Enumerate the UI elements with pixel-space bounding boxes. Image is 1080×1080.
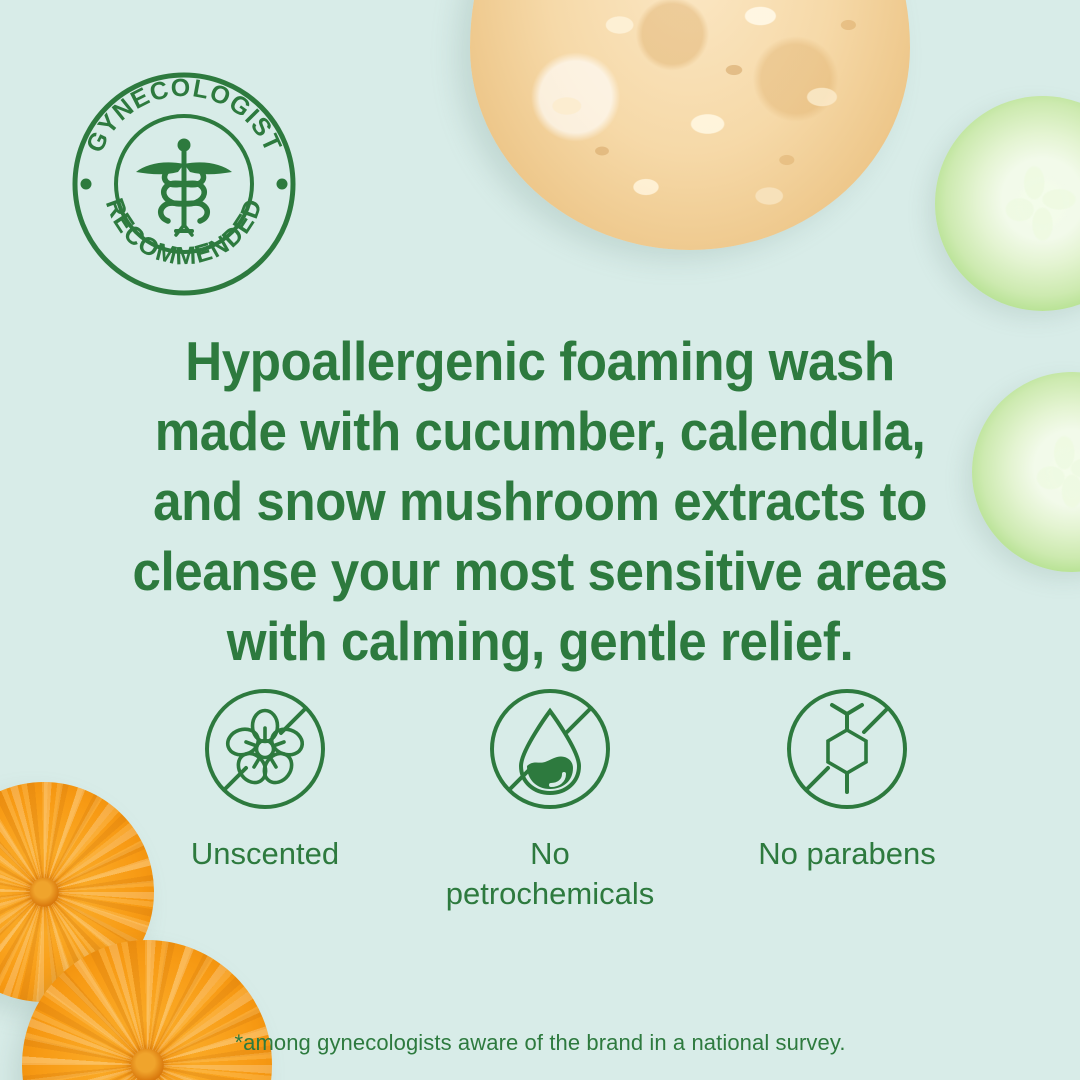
cucumber-seeds <box>1024 424 1080 520</box>
benefit-no-petrochemicals: No petrochemicals <box>425 686 675 914</box>
headline: Hypoallergenic foaming wash made with cu… <box>94 326 987 676</box>
benefit-label: Unscented <box>191 834 339 874</box>
no-parabens-molecule-icon <box>784 686 910 812</box>
snow-mushroom-image <box>470 0 910 250</box>
no-fragrance-flower-icon <box>202 686 328 812</box>
badge-dot-left <box>81 179 92 190</box>
footnote: *among gynecologists aware of the brand … <box>0 1030 1080 1056</box>
cucumber-slice-image <box>935 96 1080 311</box>
caduceus-icon <box>136 139 232 236</box>
cucumber-slice-image <box>972 372 1080 572</box>
no-petrochemicals-droplet-icon <box>487 686 613 812</box>
benefit-no-parabens: No parabens <box>722 686 972 874</box>
cucumber-seeds <box>991 152 1080 255</box>
benefit-label: No petrochemicals <box>446 834 654 914</box>
benefit-unscented: Unscented <box>140 686 390 874</box>
badge-dot-right <box>277 179 288 190</box>
gynecologist-recommended-badge: GYNECOLOGIST RECOMMENDED <box>68 68 300 300</box>
product-benefits-card: GYNECOLOGIST RECOMMENDED Hypoallergenic … <box>0 0 1080 1080</box>
flower-center <box>30 878 59 907</box>
benefit-label: No parabens <box>758 834 936 874</box>
benefits-row: Unscented No petrochemicals <box>120 686 980 914</box>
